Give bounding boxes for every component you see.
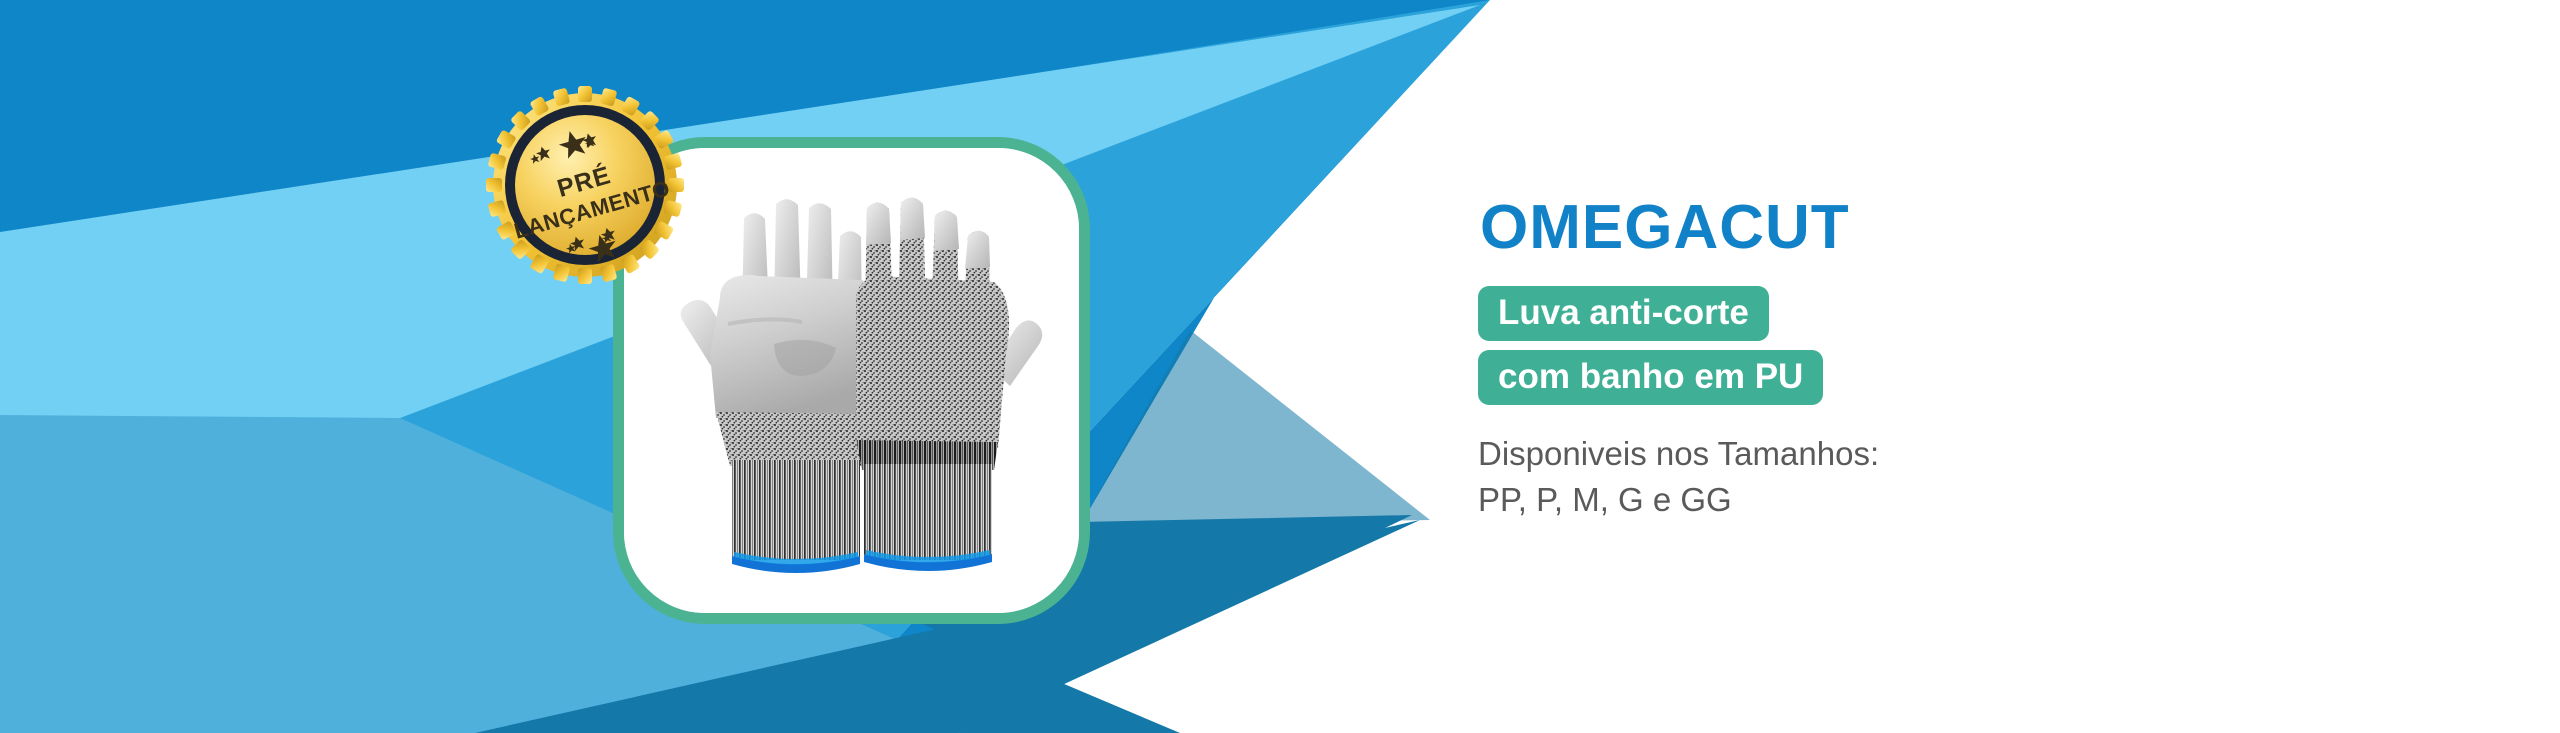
promo-copy-block: OMEGACUT Luva anti-corte com banho em PU… — [1478, 195, 2378, 522]
sizes-block: Disponiveis nos Tamanhos: PP, P, M, G e … — [1478, 431, 2378, 521]
tagline-pill-2: com banho em PU — [1478, 350, 1823, 405]
brand-title: OMEGACUT — [1480, 195, 2378, 260]
pre-launch-seal: PRÉ LANÇAMENTO — [485, 85, 685, 285]
tagline-row-1: Luva anti-corte — [1478, 286, 2378, 341]
cut-resistant-gloves-photo — [624, 148, 1079, 613]
sizes-values: PP, P, M, G e GG — [1478, 477, 2378, 522]
tagline-pill-1: Luva anti-corte — [1478, 286, 1769, 341]
sizes-label: Disponiveis nos Tamanhos: — [1478, 431, 2378, 476]
tagline-row-2: com banho em PU — [1478, 350, 2378, 405]
product-promo-banner: PRÉ LANÇAMENTO OMEGACUT Luva anti-corte … — [0, 0, 2560, 733]
